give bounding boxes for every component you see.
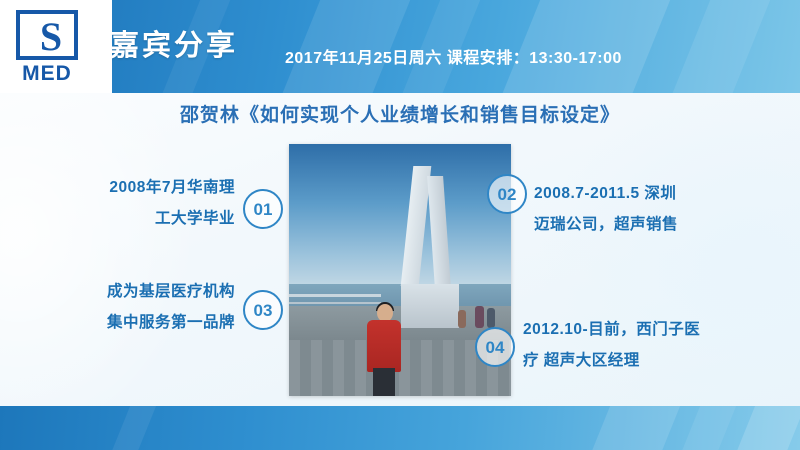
timeline-item-04-line2: 疗 超声大区经理 [523, 345, 748, 376]
timeline-marker-01: 01 [243, 189, 283, 229]
timeline-item-01-line1: 2008年7月华南理 [60, 172, 235, 203]
banner-facet-5 [662, 0, 779, 93]
photo-sky [289, 144, 511, 292]
photo-bystander-2 [487, 308, 495, 328]
timeline-item-03: 成为基层医疗机构 集中服务第一品牌 [40, 276, 235, 338]
timeline-item-03-line1: 成为基层医疗机构 [40, 276, 235, 307]
timeline-item-01: 2008年7月华南理 工大学毕业 [60, 172, 235, 234]
timeline-marker-02: 02 [487, 174, 527, 214]
background-wash-left [0, 90, 200, 450]
photo-bystander-1 [475, 306, 484, 328]
timeline-item-04: 2012.10-目前，西门子医 疗 超声大区经理 [523, 314, 748, 376]
photo-person-jacket [367, 320, 401, 372]
page-title: 嘉宾分享 [110, 22, 238, 64]
photo-person-legs [373, 368, 395, 396]
footer-banner [0, 406, 800, 450]
session-subtitle: 邵贺林《如何实现个人业绩增长和销售目标设定》 [0, 100, 800, 127]
slide: S MED 嘉宾分享 2017年11月25日周六 课程安排：13:30-17:0… [0, 0, 800, 450]
timeline-marker-03: 03 [243, 290, 283, 330]
footer-facet-4 [731, 406, 800, 450]
timeline-item-01-line2: 工大学毕业 [60, 203, 235, 234]
footer-facet-1 [106, 406, 160, 450]
background-wash-right [540, 90, 800, 450]
logo-wordmark: MED [14, 62, 80, 86]
photo-railing [289, 294, 381, 297]
photo-bystander-3 [458, 310, 466, 328]
logo-letter: S [20, 14, 82, 64]
timeline-item-02-line1: 2008.7-2011.5 深圳 [534, 178, 739, 209]
photo-railing-lower [289, 302, 381, 304]
footer-facet-3 [676, 406, 740, 450]
header-schedule: 2017年11月25日周六 课程安排：13:30-17:00 [285, 44, 622, 68]
footer-facet-2 [586, 406, 684, 450]
monument-base [401, 284, 459, 328]
monument-pillar-right [427, 176, 451, 288]
timeline-item-02-line2: 迈瑞公司，超声销售 [534, 209, 739, 240]
timeline-item-03-line2: 集中服务第一品牌 [40, 307, 235, 338]
photo-monument [401, 166, 467, 316]
timeline-item-04-line1: 2012.10-目前，西门子医 [523, 314, 748, 345]
logo: S MED [0, 0, 112, 93]
timeline-item-02: 2008.7-2011.5 深圳 迈瑞公司，超声销售 [534, 178, 739, 240]
logo-square-icon: S [16, 10, 78, 60]
timeline-marker-04: 04 [475, 327, 515, 367]
